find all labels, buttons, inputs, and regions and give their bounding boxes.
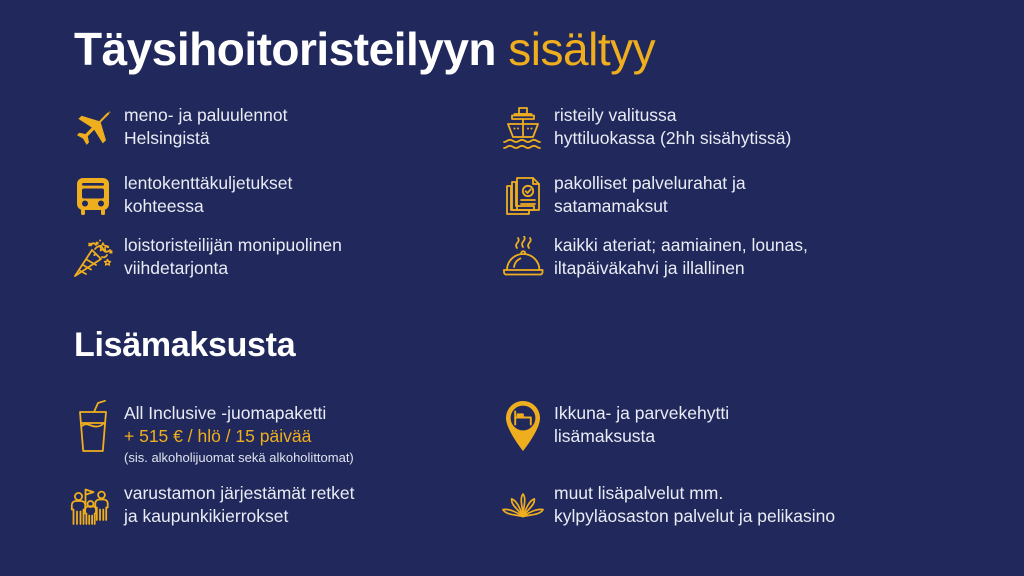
list-item-line2: ja kaupunkikierrokset [124,505,355,528]
list-item-text: meno- ja paluulennot Helsingistä [124,100,287,151]
drink-glass-icon [62,398,124,456]
list-item-line2: lisämaksusta [554,425,729,448]
slide-canvas: Täysihoitoristeilyyn sisältyy meno- ja p… [0,0,1024,576]
list-item-all-inclusive: All Inclusive -juomapaketti + 515 € / hl… [62,398,354,466]
list-item-flights: meno- ja paluulennot Helsingistä [62,100,287,158]
list-item-line1: lentokenttäkuljetukset [124,173,292,193]
list-item-line2: satamamaksut [554,195,746,218]
list-item-excursions: varustamon järjestämät retket ja kaupunk… [62,478,355,536]
list-item-meals: kaikki ateriat; aamiainen, lounas, iltap… [492,230,808,288]
list-item-text: kaikki ateriat; aamiainen, lounas, iltap… [554,230,808,281]
section-heading-extras: Lisämaksusta [74,326,295,365]
list-item-line2: viihdetarjonta [124,257,342,280]
list-item-line2: Helsingistä [124,127,287,150]
airplane-icon [62,100,124,158]
list-item-line1: kaikki ateriat; aamiainen, lounas, [554,235,808,255]
food-cloche-icon [492,230,554,288]
list-item-line1: Ikkuna- ja parvekehytti [554,403,729,423]
list-item-line1: pakolliset palvelurahat ja [554,173,746,193]
bus-icon [62,168,124,226]
page-title-accent: sisältyy [508,23,655,75]
list-item-line1: meno- ja paluulennot [124,105,287,125]
list-item-line2: kohteessa [124,195,292,218]
price-label: + 515 € / hlö / 15 päivää [124,425,354,448]
page-title-strong: Täysihoitoristeilyyn [74,23,496,75]
list-item-text: muut lisäpalvelut mm. kylpyläosaston pal… [554,478,835,529]
list-item-text: risteily valitussa hyttiluokassa (2hh si… [554,100,791,151]
list-item-service-fees: pakolliset palvelurahat ja satamamaksut [492,168,746,226]
page-title: Täysihoitoristeilyyn sisältyy [74,22,655,76]
list-item-line2: kylpyläosaston palvelut ja pelikasino [554,505,835,528]
list-item-entertainment: loistoristeilijän monipuolinen viihdetar… [62,230,342,288]
list-item-line1: All Inclusive -juomapaketti [124,403,326,423]
list-item-line2: hyttiluokassa (2hh sisähytissä) [554,127,791,150]
tour-group-icon [62,478,124,536]
documents-check-icon [492,168,554,226]
list-item-text: pakolliset palvelurahat ja satamamaksut [554,168,746,219]
list-item-text: Ikkuna- ja parvekehytti lisämaksusta [554,398,729,449]
list-item-line1: muut lisäpalvelut mm. [554,483,723,503]
list-item-cruise-cabin: risteily valitussa hyttiluokassa (2hh si… [492,100,791,158]
list-item-other-services: muut lisäpalvelut mm. kylpyläosaston pal… [492,478,835,536]
lotus-spa-icon [492,478,554,536]
list-item-line1: loistoristeilijän monipuolinen [124,235,342,255]
list-item-text: varustamon järjestämät retket ja kaupunk… [124,478,355,529]
list-item-text: All Inclusive -juomapaketti + 515 € / hl… [124,398,354,466]
list-item-line1: varustamon järjestämät retket [124,483,355,503]
list-item-text: lentokenttäkuljetukset kohteessa [124,168,292,219]
cruise-ship-icon [492,100,554,158]
party-popper-icon [62,230,124,288]
list-item-text: loistoristeilijän monipuolinen viihdetar… [124,230,342,281]
bed-location-pin-icon [492,398,554,456]
list-item-cabin-upgrade: Ikkuna- ja parvekehytti lisämaksusta [492,398,729,456]
price-note: (sis. alkoholijuomat sekä alkoholittomat… [124,449,354,467]
list-item-line1: risteily valitussa [554,105,677,125]
list-item-airport-transfers: lentokenttäkuljetukset kohteessa [62,168,292,226]
list-item-line2: iltapäiväkahvi ja illallinen [554,257,808,280]
